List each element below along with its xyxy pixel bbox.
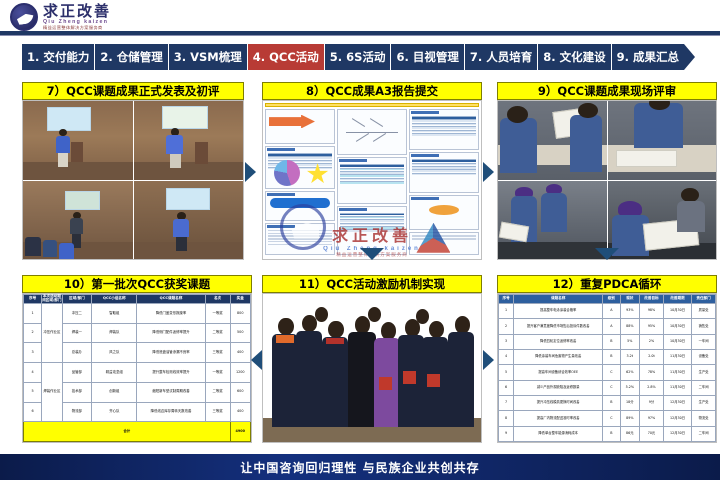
pdca-th-level: 级别 xyxy=(603,295,620,304)
panel-10-title: 10）第一批次QCC获奖课题 xyxy=(22,275,252,293)
pdca-cell-level: B xyxy=(603,349,620,364)
a3-block-oval-diagram xyxy=(409,195,479,230)
arrow-p8-to-p9-icon xyxy=(483,162,494,182)
slide-header: 求正改善 Qiu Zheng kaizen 精益运营整体解决方案服务商 xyxy=(0,0,720,34)
pdca-cell-deadline: 12月30日 xyxy=(663,395,691,410)
a3-column-middle xyxy=(337,109,407,255)
awards-cell-no: 6 xyxy=(24,402,42,422)
panel-9-title: 9）QCC课题成果现场评审 xyxy=(497,82,717,100)
pdca-cell-target: 2.0t xyxy=(640,349,664,364)
panel-9: 9）QCC课题成果现场评审 xyxy=(497,82,717,260)
awards-cell-bonus: 800 xyxy=(230,304,250,324)
header-divider-light xyxy=(0,35,720,36)
arrow-to-p11-icon xyxy=(360,248,384,260)
pdca-cell-current: 88% xyxy=(620,319,640,334)
pdca-th-deadline: 改善期限 xyxy=(663,295,691,304)
awards-cell-no: 3 xyxy=(24,343,42,363)
nav-tab-9[interactable]: 9. 成果汇总 xyxy=(612,44,684,70)
panel-12: 12）重复PDCA循环 序号 课题名称 级别 现状 改善目标 改善期限 责任部门 xyxy=(497,275,717,443)
pdca-cell-dept: 生产处 xyxy=(692,395,716,410)
brand-text: 求正改善 Qiu Zheng kaizen 精益运营整体解决方案服务商 xyxy=(43,4,111,30)
pdca-cell-current: 93% xyxy=(620,304,640,319)
photo-review-2 xyxy=(608,101,717,180)
pdca-cell-dept: 物流处 xyxy=(692,411,716,426)
awards-cell-team: 风之队 xyxy=(92,343,137,363)
pdca-cell-topic: 提升客户满意度降低市场售后投诉件数改善 xyxy=(514,319,603,334)
pdca-cell-no: 2 xyxy=(499,319,514,334)
a3-header-bar xyxy=(265,103,479,107)
pdca-cell-target: 9分 xyxy=(640,395,664,410)
table-row: 4 焊装作业区 品管部 精益攻坚组 提升整车检测线效率提升 一等奖 1200 xyxy=(24,363,251,383)
pdca-cell-target: 2.8% xyxy=(640,380,664,395)
pdca-cell-dept: 二车间 xyxy=(692,380,716,395)
a3-mini-table-2 xyxy=(339,163,405,185)
pdca-cell-no: 7 xyxy=(499,395,514,410)
awards-table: 序号 本次活动期间区域/部门 区域/部门 QCC小组名称 QCC课题名称 名次 … xyxy=(23,294,251,442)
pdca-table: 序号 课题名称 级别 现状 改善目标 改善期限 责任部门 1 提高整车电泳涂装合… xyxy=(498,294,716,442)
pdca-th-dept: 责任部门 xyxy=(692,295,716,304)
panel-7: 7）QCC课题成果正式发表及初评 xyxy=(22,82,244,260)
pdca-cell-level: C xyxy=(603,365,620,380)
panel-10: 10）第一批次QCC获奖课题 序号 本次活动期间区域/部门 区域/部门 QCC小… xyxy=(22,275,252,443)
awards-cell-rank: 三等奖 xyxy=(205,343,230,363)
pdca-cell-target: 97% xyxy=(640,411,664,426)
pdca-cell-target: 95% xyxy=(640,319,664,334)
awards-cell-team: 智取组 xyxy=(92,304,137,324)
pdca-cell-level: A xyxy=(603,319,620,334)
awards-cell-rank: 二等奖 xyxy=(205,323,230,343)
panel-12-title: 12）重复PDCA循环 xyxy=(497,275,717,293)
pdca-cell-dept: 质量处 xyxy=(692,304,716,319)
awards-cell-dept: 焊装一 xyxy=(62,323,92,343)
awards-cell-bonus: 400 xyxy=(230,402,250,422)
table-row: 4 降低涂装车间危废物产生量改善 B 3.2t 2.0t 11月30日 设备处 xyxy=(499,349,716,364)
awards-cell-no: 4 xyxy=(24,363,42,383)
pdca-cell-dept: 设备处 xyxy=(692,349,716,364)
awards-th-region: 本次活动期间区域/部门 xyxy=(42,295,62,304)
pdca-cell-no: 9 xyxy=(499,426,514,441)
pdca-cell-current: 62% xyxy=(620,365,640,380)
pdca-cell-no: 8 xyxy=(499,411,514,426)
pdca-cell-topic: 提升冲压线模具更换时间改善 xyxy=(514,395,603,410)
awards-cell-topic: 降低线边库存周转天数改善 xyxy=(137,402,205,422)
pdca-cell-topic: 降低涂装车间危废物产生量改善 xyxy=(514,349,603,364)
table-row: 6 减少产品外观缺陷及返修数量 C 5.2% 2.8% 11月30日 二车间 xyxy=(499,380,716,395)
nav-tab-7[interactable]: 7. 人员培育 xyxy=(465,44,538,70)
nav-tab-3[interactable]: 3. VSM梳理 xyxy=(169,44,248,70)
pdca-cell-target: 2% xyxy=(640,334,664,349)
pdca-cell-level: B xyxy=(603,395,620,410)
awards-th-topic: QCC课题名称 xyxy=(137,295,205,304)
awards-cell-team: 创新组 xyxy=(92,382,137,402)
pdca-th-topic: 课题名称 xyxy=(514,295,603,304)
table-row: 8 提高厂内物流配送准时率改善 C 89% 97% 12月30日 物流处 xyxy=(499,411,716,426)
pdca-cell-deadline: 10月30日 xyxy=(663,334,691,349)
panel-7-photos xyxy=(22,100,244,260)
a3-block-table-pie xyxy=(265,146,335,189)
pdca-cell-no: 4 xyxy=(499,349,514,364)
awards-cell-topic: 降低门盖变形报废率 xyxy=(137,304,205,324)
pdca-cell-topic: 提高车间设备综合效率OEE xyxy=(514,365,603,380)
panel-8-title: 8）QCC成果A3报告提交 xyxy=(262,82,482,100)
table-row: 1 冲压作业区 冲压二 智取组 降低门盖变形报废率 一等奖 800 xyxy=(24,304,251,324)
awards-cell-bonus: 1200 xyxy=(230,363,250,383)
awards-cell-bonus: 400 xyxy=(230,343,250,363)
awards-table-header-row: 序号 本次活动期间区域/部门 区域/部门 QCC小组名称 QCC课题名称 名次 … xyxy=(24,295,251,304)
awards-cell-team: 焊装队 xyxy=(92,323,137,343)
pdca-cell-topic: 减少产品外观缺陷及返修数量 xyxy=(514,380,603,395)
pdca-cell-deadline: 12月30日 xyxy=(663,411,691,426)
a3-block-data-table-2 xyxy=(409,152,479,193)
awards-total-value: 4900 xyxy=(230,422,250,442)
panel-11: 11）QCC活动激励机制实现 xyxy=(262,275,482,443)
awards-th-bonus: 奖金 xyxy=(230,295,250,304)
pdca-cell-current: 3.2t xyxy=(620,349,640,364)
pdca-cell-target: 98% xyxy=(640,304,664,319)
pdca-cell-no: 5 xyxy=(499,365,514,380)
arrow-p11-to-p12-icon xyxy=(483,350,494,370)
awards-th-team: QCC小组名称 xyxy=(92,295,137,304)
swoosh-circle-logo-icon xyxy=(10,3,38,31)
a3-column-right xyxy=(409,109,479,255)
a3-mini-table-5 xyxy=(411,158,477,176)
photo-review-3 xyxy=(498,181,607,260)
pdca-th-no: 序号 xyxy=(499,295,514,304)
awards-cell-region: 冲压作业区 xyxy=(42,304,62,363)
awards-cell-no: 5 xyxy=(24,382,42,402)
pdca-cell-current: 5.2% xyxy=(620,380,640,395)
footer-banner: 让中国咨询回归理性 与民族企业共创共存 xyxy=(0,454,720,480)
panel-12-pdca-table: 序号 课题名称 级别 现状 改善目标 改善期限 责任部门 1 提高整车电泳涂装合… xyxy=(497,293,717,443)
nav-tab-1[interactable]: 1. 交付能力 xyxy=(22,44,95,70)
table-row: 1 提高整车电泳涂装合格率 A 93% 98% 10月30日 质量处 xyxy=(499,304,716,319)
a3-block-data-table xyxy=(409,109,479,150)
pdca-cell-level: B xyxy=(603,334,620,349)
pdca-cell-dept: 销售处 xyxy=(692,319,716,334)
arrow-p7-to-p8-icon xyxy=(245,162,256,182)
pdca-cell-no: 6 xyxy=(499,380,514,395)
awards-th-dept: 区域/部门 xyxy=(62,295,92,304)
awards-cell-rank: 二等奖 xyxy=(205,382,230,402)
awards-cell-dept: 物流部 xyxy=(62,402,92,422)
photo-award-ceremony-group xyxy=(263,294,481,442)
pdca-cell-level: C xyxy=(603,411,620,426)
panel-7-title: 7）QCC课题成果正式发表及初评 xyxy=(22,82,244,100)
pdca-cell-topic: 提高厂内物流配送准时率改善 xyxy=(514,411,603,426)
pdca-cell-dept: 生产处 xyxy=(692,365,716,380)
table-row: 2 提升客户满意度降低市场售后投诉件数改善 A 88% 95% 10月30日 销… xyxy=(499,319,716,334)
pdca-cell-target: 78% xyxy=(640,365,664,380)
photo-presentation-2 xyxy=(134,101,244,180)
panel-8-a3-report: 求正改善 Qiu Zheng kaizen 精益运营整体解决方案服务商 xyxy=(262,100,482,260)
photo-review-4 xyxy=(608,181,717,260)
pdca-cell-deadline: 11月30日 xyxy=(663,365,691,380)
photo-review-1 xyxy=(498,101,607,180)
pdca-cell-deadline: 12月30日 xyxy=(663,426,691,441)
table-row: 5 提高车间设备综合效率OEE C 62% 78% 11月30日 生产处 xyxy=(499,365,716,380)
awards-cell-topic: 提升整车检测线效率提升 xyxy=(137,363,205,383)
pdca-cell-no: 1 xyxy=(499,304,514,319)
pdca-cell-target: 70元 xyxy=(640,426,664,441)
awards-th-no: 序号 xyxy=(24,295,42,304)
awards-cell-rank: 三等奖 xyxy=(205,402,230,422)
arrow-p11-to-p10-icon xyxy=(251,350,262,370)
awards-total-label: 合计 xyxy=(24,422,231,442)
panel-11-title: 11）QCC活动激励机制实现 xyxy=(262,275,482,293)
pdca-cell-current: 5% xyxy=(620,334,640,349)
photo-presentation-1 xyxy=(23,101,133,180)
awards-cell-topic: 缩短新车型试制周期改善 xyxy=(137,382,205,402)
pdca-cell-deadline: 10月30日 xyxy=(663,304,691,319)
pdca-cell-deadline: 11月30日 xyxy=(663,349,691,364)
pdca-cell-deadline: 11月30日 xyxy=(663,380,691,395)
panel-11-group-photo xyxy=(262,293,482,443)
awards-cell-dept: 技术部 xyxy=(62,382,92,402)
pdca-table-header-row: 序号 课题名称 级别 现状 改善目标 改善期限 责任部门 xyxy=(499,295,716,304)
awards-cell-dept: 品管部 xyxy=(62,363,92,383)
photo-presentation-3 xyxy=(23,181,133,260)
nav-tab-4-qcc-active[interactable]: 4. QCC活动 xyxy=(248,44,325,70)
a3-block-arrow xyxy=(265,109,335,144)
pdca-cell-current: 89% xyxy=(620,411,640,426)
panel-9-photos xyxy=(497,100,717,260)
pdca-cell-no: 3 xyxy=(499,334,514,349)
panel-10-awards-table: 序号 本次活动期间区域/部门 区域/部门 QCC小组名称 QCC课题名称 名次 … xyxy=(22,293,252,443)
panel-8: 8）QCC成果A3报告提交 xyxy=(262,82,482,260)
awards-cell-topic: 降低底盘油管渗漏不良率 xyxy=(137,343,205,363)
brand-name-cn: 求正改善 xyxy=(43,4,111,19)
pdca-cell-dept: 二车间 xyxy=(692,426,716,441)
pdca-cell-current: 18分 xyxy=(620,395,640,410)
awards-cell-no: 2 xyxy=(24,323,42,343)
table-row: 9 降低单台整车能源消耗成本 B 86元 70元 12月30日 二车间 xyxy=(499,426,716,441)
pdca-cell-topic: 提高整车电泳涂装合格率 xyxy=(514,304,603,319)
arrow-p9-to-p12-icon xyxy=(595,248,619,260)
pdca-cell-current: 86元 xyxy=(620,426,640,441)
pdca-cell-topic: 降低单台整车能源消耗成本 xyxy=(514,426,603,441)
nav-tab-2[interactable]: 2. 仓储管理 xyxy=(95,44,168,70)
footer-slogan: 让中国咨询回归理性 与民族企业共创共存 xyxy=(240,459,479,476)
awards-cell-bonus: 600 xyxy=(230,382,250,402)
a3-pie-chart xyxy=(274,160,300,186)
nav-tab-8[interactable]: 8. 文化建设 xyxy=(538,44,611,70)
awards-cell-dept: 冲压二 xyxy=(62,304,92,324)
table-row: 7 提升冲压线模具更换时间改善 B 18分 9分 12月30日 生产处 xyxy=(499,395,716,410)
nav-tab-5[interactable]: 5. 6S活动 xyxy=(325,44,392,70)
awards-cell-rank: 一等奖 xyxy=(205,304,230,324)
awards-cell-bonus: 500 xyxy=(230,323,250,343)
pdca-cell-topic: 降低四轮定位返修率改善 xyxy=(514,334,603,349)
pdca-th-target: 改善目标 xyxy=(640,295,664,304)
awards-cell-dept: 总装办 xyxy=(62,343,92,363)
photo-presentation-4 xyxy=(134,181,244,260)
brand-logo: 求正改善 Qiu Zheng kaizen 精益运营整体解决方案服务商 xyxy=(10,3,111,31)
slide-root: 求正改善 Qiu Zheng kaizen 精益运营整体解决方案服务商 1. 交… xyxy=(0,0,720,480)
awards-cell-topic: 降低侧门配件返修率提升 xyxy=(137,323,205,343)
nav-tab-6[interactable]: 6. 目视管理 xyxy=(391,44,464,70)
section-nav[interactable]: 1. 交付能力 2. 仓储管理 3. VSM梳理 4. QCC活动 5. 6S活… xyxy=(22,44,695,70)
awards-cell-no: 1 xyxy=(24,304,42,324)
a3-block-table-cyan xyxy=(337,157,407,203)
pdca-cell-deadline: 10月30日 xyxy=(663,319,691,334)
table-row: 3 降低四轮定位返修率改善 B 5% 2% 10月30日 一车间 xyxy=(499,334,716,349)
awards-cell-region: 焊装作业区 xyxy=(42,363,62,422)
pdca-cell-level: A xyxy=(603,304,620,319)
awards-th-rank: 名次 xyxy=(205,295,230,304)
awards-cell-team: 齐心队 xyxy=(92,402,137,422)
pdca-cell-level: B xyxy=(603,426,620,441)
awards-total-row: 合计 4900 xyxy=(24,422,251,442)
nav-chevron-right-icon xyxy=(684,44,695,70)
awards-cell-team: 精益攻坚组 xyxy=(92,363,137,383)
pdca-th-current: 现状 xyxy=(620,295,640,304)
a3-mini-table-4 xyxy=(411,115,477,137)
a3-mini-table-3 xyxy=(339,212,405,234)
pdca-cell-dept: 一车间 xyxy=(692,334,716,349)
a3-watermark-logo-icon xyxy=(280,204,326,250)
pdca-cell-level: C xyxy=(603,380,620,395)
awards-cell-rank: 一等奖 xyxy=(205,363,230,383)
a3-block-fishbone xyxy=(337,109,407,155)
brand-tagline: 精益运营整体解决方案服务商 xyxy=(43,26,111,30)
